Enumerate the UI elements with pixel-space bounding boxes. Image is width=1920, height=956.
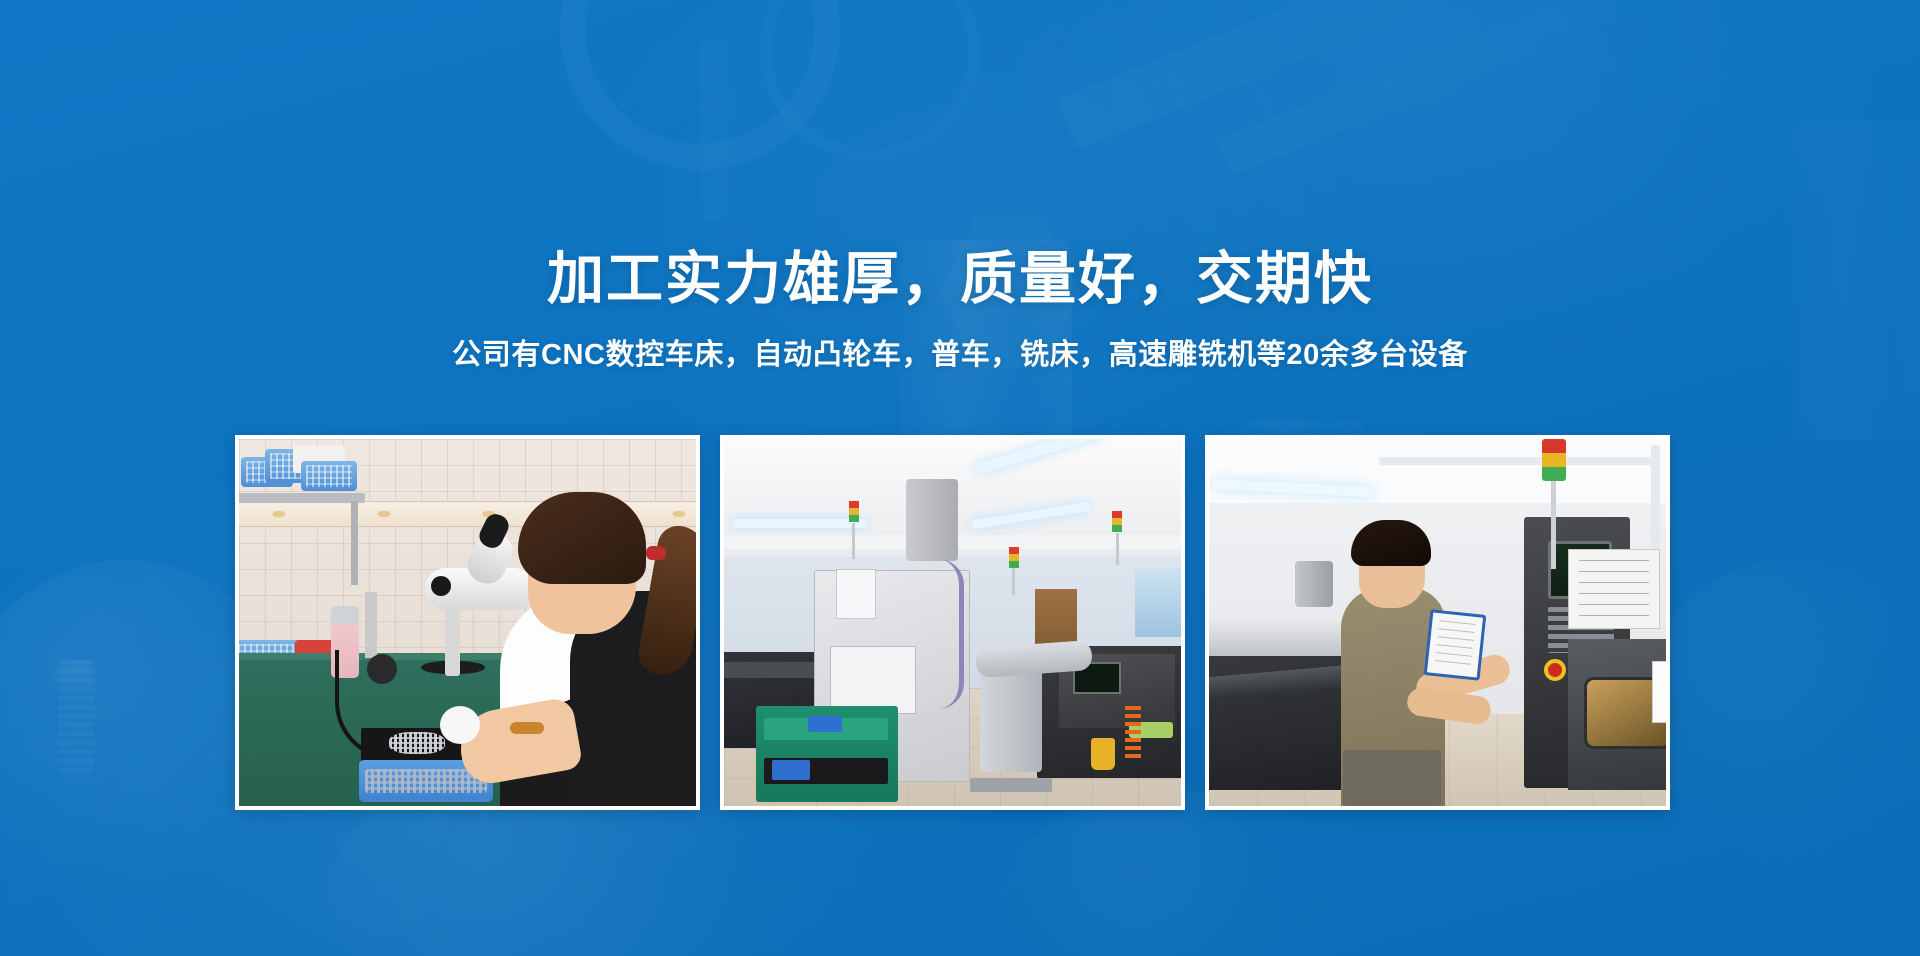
banner-copy: 加工实力雄厚，质量好，交期快 公司有CNC数控车床，自动凸轮车，普车，铣床，高速… [0, 248, 1920, 373]
andon-light-icon [1112, 511, 1122, 532]
photo-machine-operator[interactable] [1205, 435, 1670, 810]
photo-machine-operator-image [1209, 439, 1666, 806]
photo-cnc-workshop-image [724, 439, 1181, 806]
emergency-stop-icon [1544, 659, 1566, 681]
photo-gallery [235, 435, 1670, 810]
photo-quality-inspection[interactable] [235, 435, 700, 810]
photo-cnc-workshop[interactable] [720, 435, 1185, 810]
page-subtitle: 公司有CNC数控车床，自动凸轮车，普车，铣床，高速雕铣机等20余多台设备 [0, 338, 1920, 373]
page-title: 加工实力雄厚，质量好，交期快 [0, 248, 1920, 312]
andon-light-icon [849, 501, 859, 522]
andon-light-icon [1542, 439, 1566, 481]
andon-light-icon [1009, 547, 1019, 568]
promo-banner: 加工实力雄厚，质量好，交期快 公司有CNC数控车床，自动凸轮车，普车，铣床，高速… [0, 0, 1920, 956]
photo-quality-inspection-image [239, 439, 696, 806]
